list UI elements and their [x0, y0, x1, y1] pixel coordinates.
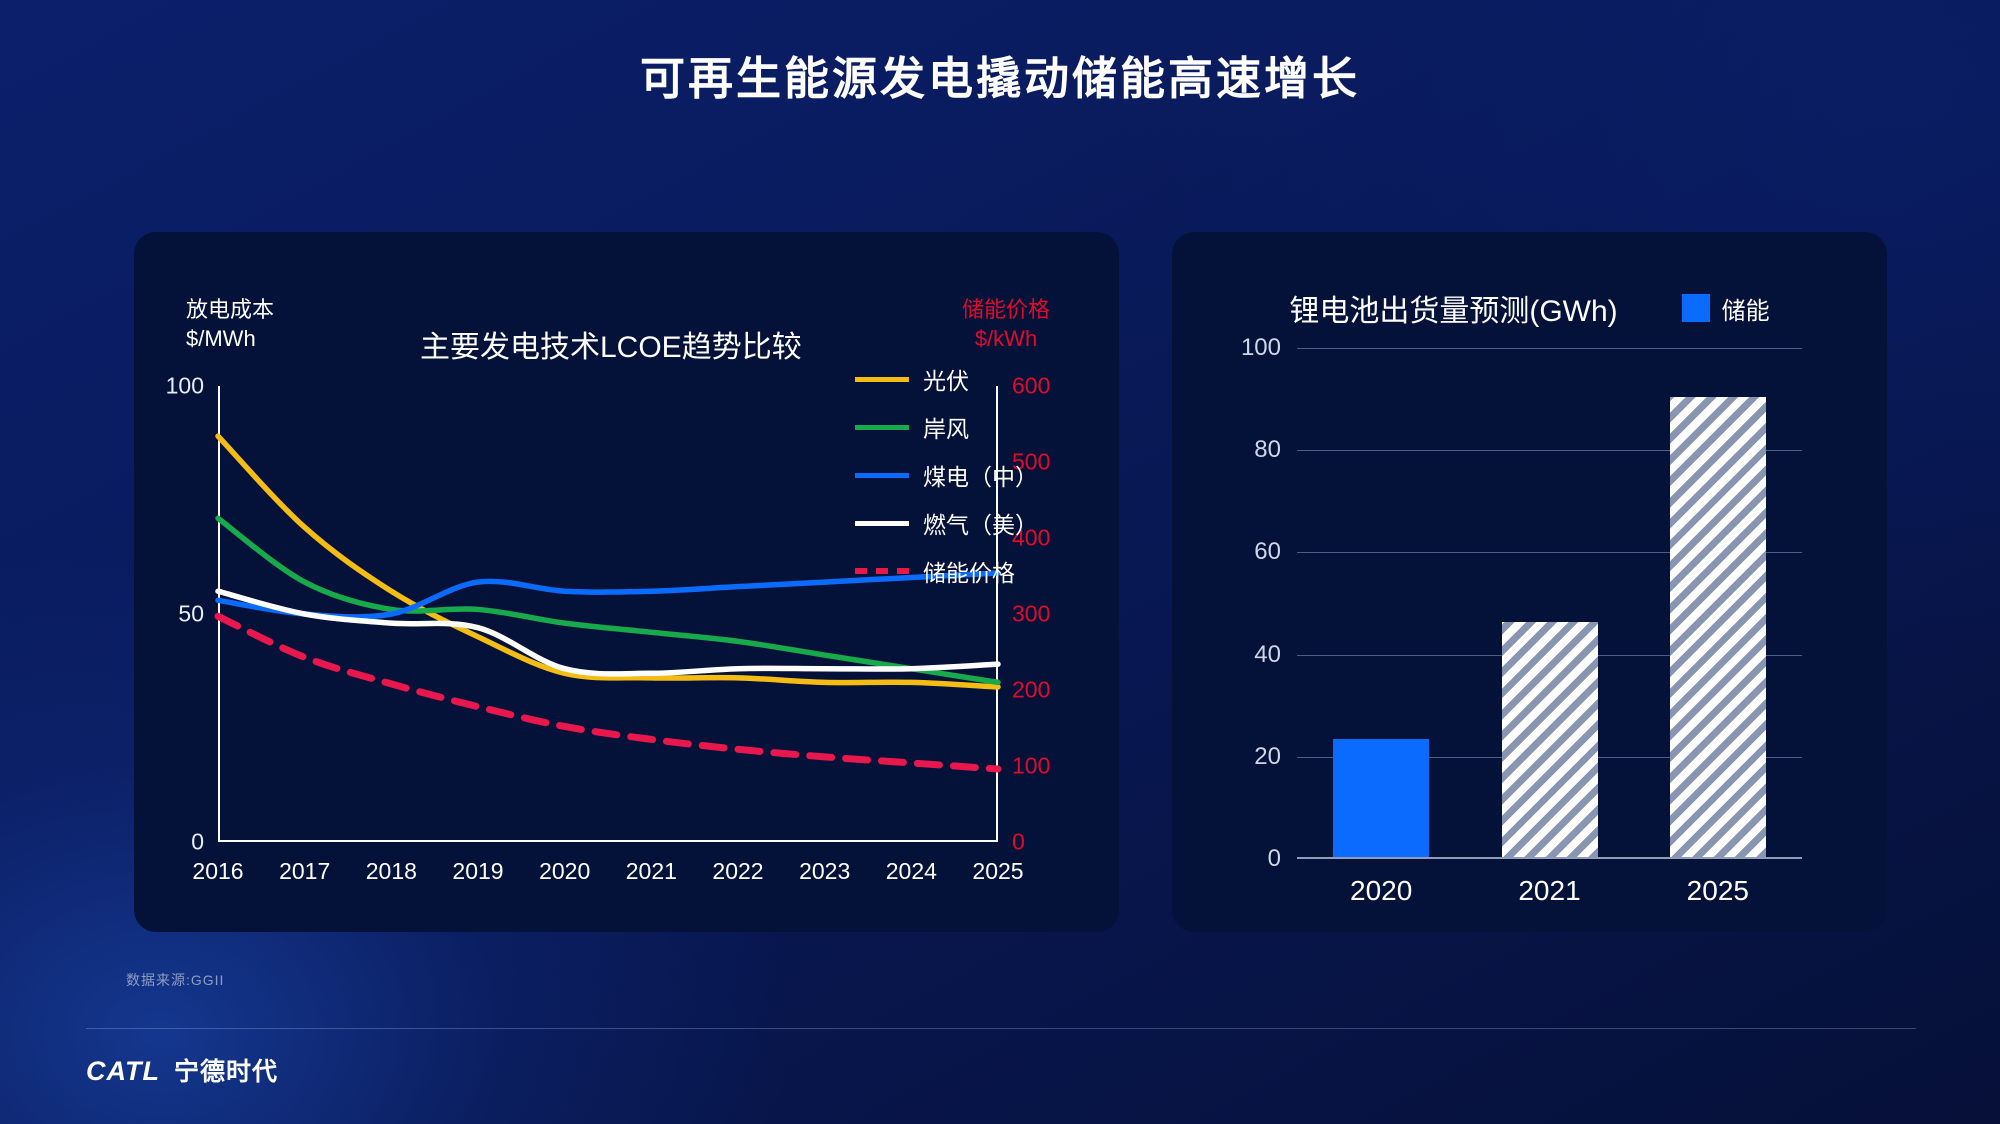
- shipment-bar[interactable]: [1502, 622, 1598, 857]
- lcoe-legend-swatch-icon: [855, 521, 909, 526]
- shipment-x-tick: 2020: [1350, 875, 1412, 907]
- right-axis-caption: 储能价格 $/kWh: [962, 296, 1050, 353]
- shipment-bar[interactable]: [1670, 397, 1766, 857]
- shipment-y-tick: 0: [1268, 845, 1281, 873]
- catl-logo: CATL 宁德时代: [86, 1052, 278, 1088]
- shipment-bar[interactable]: [1333, 739, 1429, 857]
- lcoe-legend-swatch-icon: [855, 568, 909, 574]
- shipment-legend: 储能: [1682, 291, 1770, 326]
- shipment-chart-header: 锂电池出货量预测(GWh) 储能: [1172, 286, 1887, 330]
- lcoe-x-tick: 2017: [279, 858, 330, 885]
- shipment-x-tick: 2025: [1687, 875, 1749, 907]
- lcoe-legend: 光伏岸风煤电（中）燃气（美）储能价格: [855, 362, 1038, 588]
- lcoe-legend-item[interactable]: 光伏: [855, 362, 1038, 396]
- lcoe-y-tick-right: 200: [1012, 677, 1050, 704]
- shipment-y-tick: 60: [1254, 538, 1281, 566]
- brand-latin-text: CATL: [86, 1056, 160, 1087]
- lcoe-y-tick-left: 50: [178, 601, 204, 628]
- lcoe-legend-label: 储能价格: [923, 554, 1015, 588]
- lcoe-legend-item[interactable]: 燃气（美）: [855, 506, 1038, 540]
- lcoe-legend-label: 光伏: [923, 362, 969, 396]
- source-note: 数据来源:GGII: [126, 970, 224, 990]
- lcoe-legend-item[interactable]: 岸风: [855, 410, 1038, 444]
- lcoe-y-tick-left: 100: [166, 373, 204, 400]
- brand-chinese-text: 宁德时代: [174, 1052, 278, 1088]
- right-axis-caption-line1: 储能价格: [962, 296, 1050, 325]
- legend-swatch-icon: [1682, 294, 1710, 322]
- lcoe-legend-swatch-icon: [855, 473, 909, 478]
- page-title: 可再生能源发电撬动储能高速增长: [0, 52, 2000, 106]
- shipment-chart-title: 锂电池出货量预测(GWh): [1289, 286, 1617, 330]
- shipment-plot-area: 020406080100202020212025: [1297, 348, 1802, 859]
- lcoe-x-tick: 2023: [799, 858, 850, 885]
- left-axis-caption-line1: 放电成本: [186, 296, 274, 325]
- lcoe-legend-item[interactable]: 煤电（中）: [855, 458, 1038, 492]
- lcoe-y-tick-right: 300: [1012, 601, 1050, 628]
- lcoe-y-tick-right: 100: [1012, 753, 1050, 780]
- right-axis-caption-line2: $/kWh: [962, 325, 1050, 354]
- lcoe-x-tick: 2024: [886, 858, 937, 885]
- lcoe-x-tick: 2022: [712, 858, 763, 885]
- shipment-y-tick: 40: [1254, 641, 1281, 669]
- lcoe-x-tick: 2018: [366, 858, 417, 885]
- lcoe-legend-label: 煤电（中）: [923, 458, 1038, 492]
- shipment-legend-label: 储能: [1722, 291, 1770, 326]
- lcoe-legend-label: 燃气（美）: [923, 506, 1038, 540]
- left-axis-caption-line2: $/MWh: [186, 325, 274, 354]
- lcoe-x-tick: 2021: [626, 858, 677, 885]
- lcoe-legend-swatch-icon: [855, 377, 909, 382]
- lcoe-x-tick: 2025: [972, 858, 1023, 885]
- shipment-y-tick: 20: [1254, 743, 1281, 771]
- shipment-x-axis: [1297, 857, 1802, 859]
- lcoe-chart-title: 主要发电技术LCOE趋势比较: [420, 322, 802, 366]
- shipment-y-tick: 80: [1254, 436, 1281, 464]
- shipment-y-tick: 100: [1241, 334, 1281, 362]
- lcoe-y-tick-right: 0: [1012, 829, 1025, 856]
- lcoe-x-tick: 2019: [452, 858, 503, 885]
- slide-root: 可再生能源发电撬动储能高速增长 放电成本 $/MWh 储能价格 $/kWh 主要…: [0, 0, 2000, 1124]
- footer-divider: [86, 1028, 1916, 1029]
- lcoe-x-tick: 2020: [539, 858, 590, 885]
- left-axis-caption: 放电成本 $/MWh: [186, 296, 274, 353]
- lcoe-legend-label: 岸风: [923, 410, 969, 444]
- lcoe-legend-item[interactable]: 储能价格: [855, 554, 1038, 588]
- lcoe-y-tick-left: 0: [191, 829, 204, 856]
- lcoe-series-line: [218, 616, 998, 769]
- shipment-x-tick: 2021: [1518, 875, 1580, 907]
- shipment-gridline: [1297, 348, 1802, 349]
- lcoe-x-tick: 2016: [192, 858, 243, 885]
- lcoe-legend-swatch-icon: [855, 425, 909, 430]
